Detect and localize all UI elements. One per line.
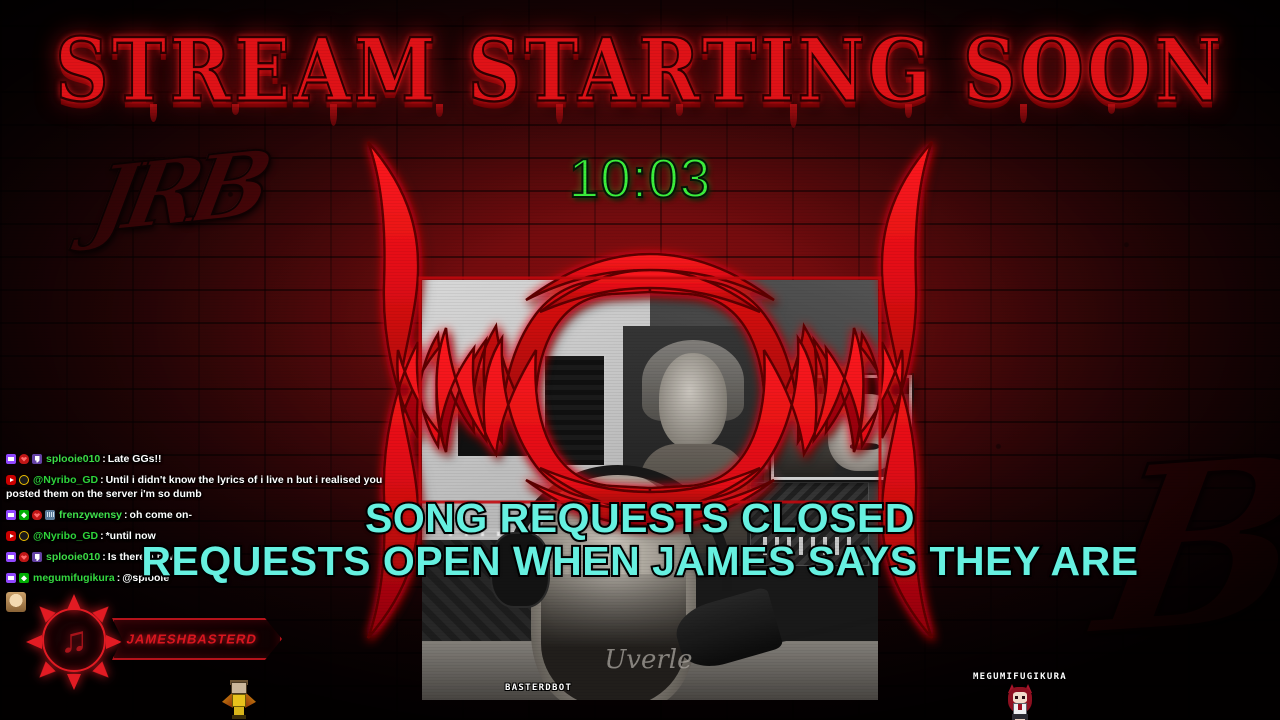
sprite-name-label: MEGUMIFUGIKURA (960, 672, 1080, 682)
chat-separator: : (100, 474, 104, 486)
badge-group (6, 454, 42, 464)
tiktok-icon: ♫ (60, 621, 88, 658)
social-handle-banner[interactable]: ♫ JAMESHBASTERD ❯ (30, 600, 290, 680)
page-title: STREAM STARTING SOON (0, 20, 1280, 121)
studio-scene: Uverle (422, 280, 878, 700)
sprite-basterdbot: BASTERDBOT (505, 683, 572, 695)
sprite-basterdbot-body (222, 680, 256, 720)
hand-emote-icon (6, 592, 26, 612)
chat-username[interactable]: @Nyribo_GD (33, 474, 98, 486)
stream-overlay-stage: JRB B STREAM STARTING SOON 10:03 (0, 0, 1280, 720)
sprite-megumifugikura: MEGUMIFUGIKURA (960, 672, 1080, 720)
twitch-badge-icon (32, 454, 42, 464)
chat-separator: : (102, 453, 106, 465)
main-webcam-feed: Uverle (422, 280, 878, 700)
chat-message: splooie010:Late GGs!! (6, 452, 398, 466)
chat-username[interactable]: splooie010 (46, 453, 100, 465)
prime-badge-icon (6, 454, 16, 464)
youtube-badge-icon (6, 475, 16, 485)
social-handle-text: JAMESHBASTERD (112, 632, 271, 647)
picture-in-picture-webcam (771, 375, 912, 480)
sub-badge-icon (19, 454, 29, 464)
member-badge-icon (19, 475, 29, 485)
badge-group (6, 475, 29, 485)
announcement-line-1: SONG REQUESTS CLOSED (0, 495, 1280, 542)
announcement-line-2: REQUESTS OPEN WHEN JAMES SAYS THEY ARE (0, 538, 1280, 585)
basterdbot-sprite-icon (222, 680, 256, 720)
handle-plate: JAMESHBASTERD ❯ (112, 618, 282, 660)
megumifugikura-sprite-icon (1003, 684, 1037, 720)
chat-text: Late GGs!! (108, 453, 162, 465)
sprite-name-label: BASTERDBOT (505, 683, 572, 693)
